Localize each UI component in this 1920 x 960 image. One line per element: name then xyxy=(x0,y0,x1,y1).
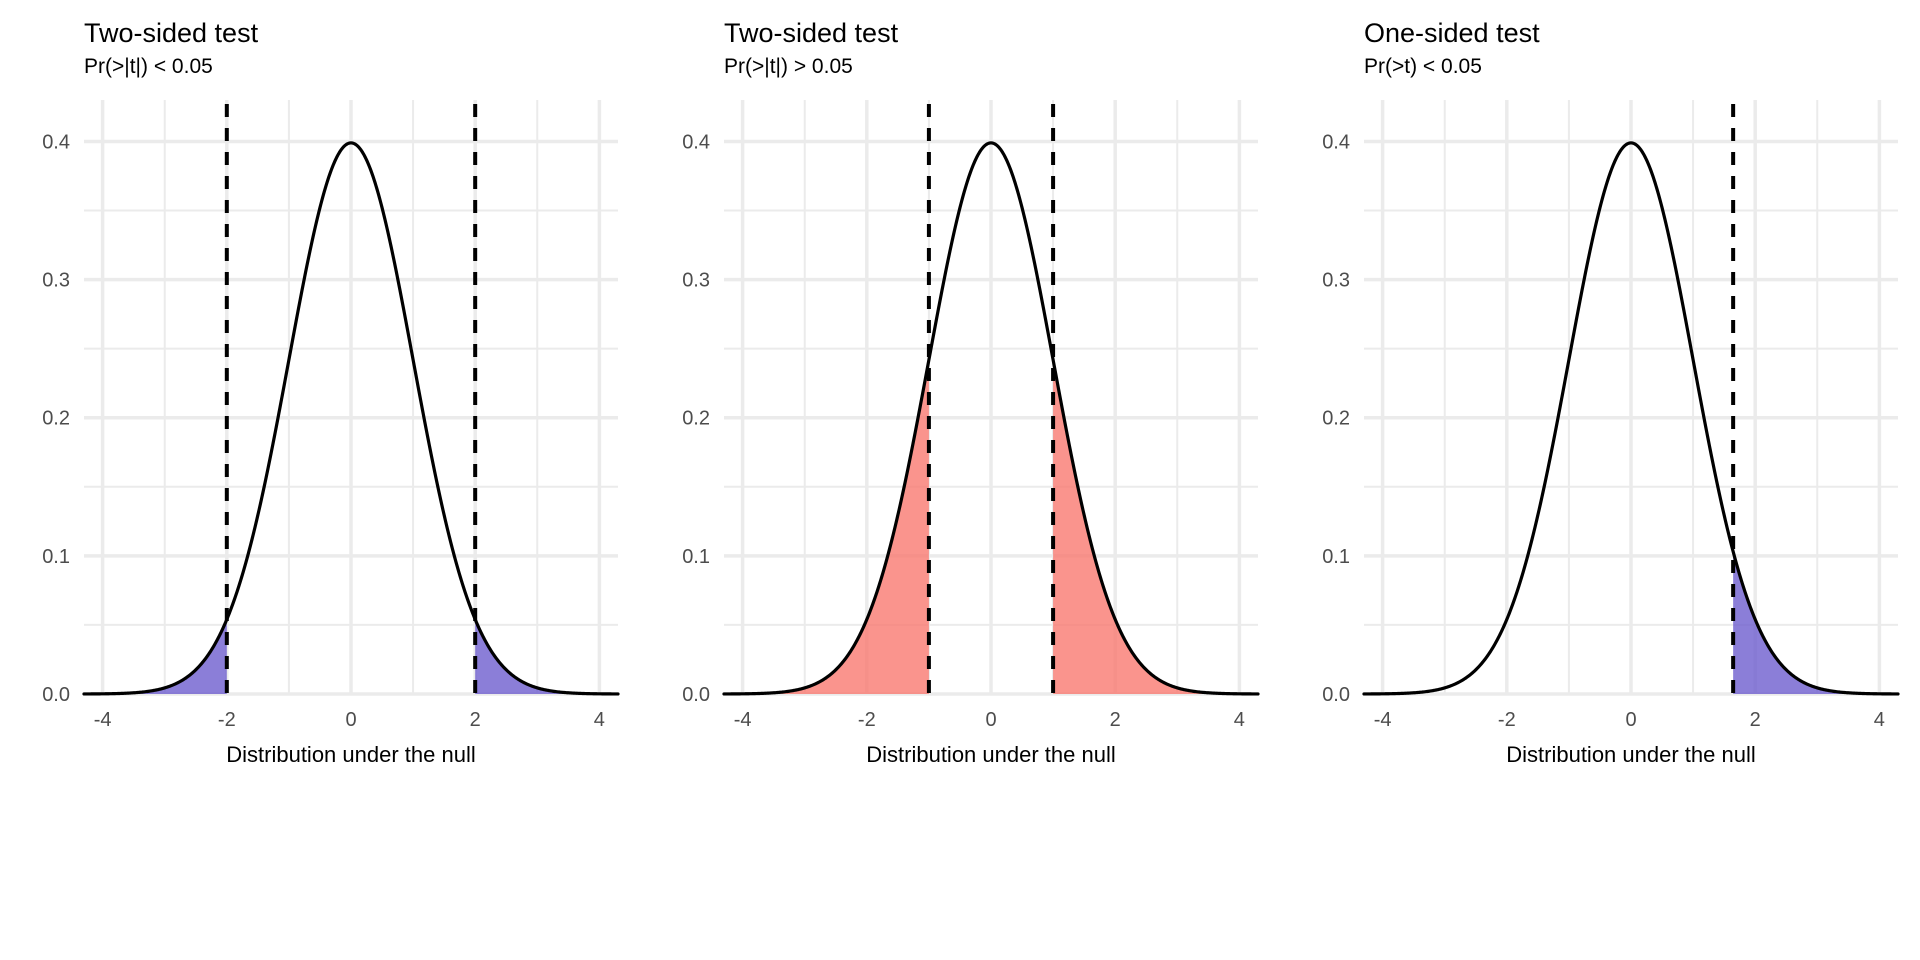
x-axis-title: Distribution under the null xyxy=(226,742,475,767)
plot-canvas: 0.00.10.20.30.4-4-2024Distribution under… xyxy=(0,82,640,772)
plot-background xyxy=(1280,82,1920,772)
x-tick-label: -2 xyxy=(1498,709,1516,731)
x-tick-label: -4 xyxy=(1374,709,1392,731)
plot-canvas: 0.00.10.20.30.4-4-2024Distribution under… xyxy=(640,82,1280,772)
y-tick-label: 0.2 xyxy=(682,408,710,430)
y-tick-label: 0.4 xyxy=(1322,131,1350,153)
plot-area: 0.00.10.20.30.4-4-2024Distribution under… xyxy=(1280,82,1920,772)
y-tick-label: 0.3 xyxy=(1322,270,1350,292)
panel-title: Two-sided test xyxy=(84,16,640,50)
plot-background xyxy=(0,82,640,772)
panel-subtitle: Pr(>|t|) < 0.05 xyxy=(84,52,640,82)
panel-subtitle: Pr(>|t|) > 0.05 xyxy=(724,52,1280,82)
y-tick-label: 0.4 xyxy=(682,131,710,153)
plot-panel-two-sided-significant: Two-sided testPr(>|t|) < 0.050.00.10.20.… xyxy=(0,0,640,760)
plot-background xyxy=(640,82,1280,772)
y-tick-label: 0.2 xyxy=(1322,408,1350,430)
x-tick-label: -4 xyxy=(94,709,112,731)
plot-canvas: 0.00.10.20.30.4-4-2024Distribution under… xyxy=(1280,82,1920,772)
x-tick-label: -2 xyxy=(858,709,876,731)
panel-title: Two-sided test xyxy=(724,16,1280,50)
x-tick-label: 2 xyxy=(470,709,481,731)
x-tick-label: 2 xyxy=(1750,709,1761,731)
plot-panel-one-sided-significant: One-sided testPr(>t) < 0.050.00.10.20.30… xyxy=(1280,0,1920,760)
x-tick-label: 0 xyxy=(1625,709,1636,731)
y-tick-label: 0.4 xyxy=(42,131,70,153)
figure-panel-row: Two-sided testPr(>|t|) < 0.050.00.10.20.… xyxy=(0,0,1920,760)
y-tick-label: 0.2 xyxy=(42,408,70,430)
panel-title-block: Two-sided testPr(>|t|) < 0.05 xyxy=(0,0,640,82)
x-axis-title: Distribution under the null xyxy=(1506,742,1755,767)
y-tick-label: 0.3 xyxy=(682,270,710,292)
y-tick-label: 0.1 xyxy=(42,546,70,568)
panel-title-block: One-sided testPr(>t) < 0.05 xyxy=(1280,0,1920,82)
panel-title-block: Two-sided testPr(>|t|) > 0.05 xyxy=(640,0,1280,82)
panel-subtitle: Pr(>t) < 0.05 xyxy=(1364,52,1920,82)
x-tick-label: 4 xyxy=(1234,709,1245,731)
x-tick-label: 2 xyxy=(1110,709,1121,731)
plot-area: 0.00.10.20.30.4-4-2024Distribution under… xyxy=(0,82,640,772)
x-tick-label: 0 xyxy=(985,709,996,731)
y-tick-label: 0.0 xyxy=(1322,684,1350,706)
x-axis-title: Distribution under the null xyxy=(866,742,1115,767)
y-tick-label: 0.1 xyxy=(1322,546,1350,568)
y-tick-label: 0.0 xyxy=(682,684,710,706)
y-tick-label: 0.1 xyxy=(682,546,710,568)
y-tick-label: 0.0 xyxy=(42,684,70,706)
plot-panel-two-sided-not-significant: Two-sided testPr(>|t|) > 0.050.00.10.20.… xyxy=(640,0,1280,760)
x-tick-label: 4 xyxy=(1874,709,1885,731)
plot-area: 0.00.10.20.30.4-4-2024Distribution under… xyxy=(640,82,1280,772)
x-tick-label: -2 xyxy=(218,709,236,731)
panel-title: One-sided test xyxy=(1364,16,1920,50)
y-tick-label: 0.3 xyxy=(42,270,70,292)
x-tick-label: 0 xyxy=(345,709,356,731)
x-tick-label: -4 xyxy=(734,709,752,731)
x-tick-label: 4 xyxy=(594,709,605,731)
